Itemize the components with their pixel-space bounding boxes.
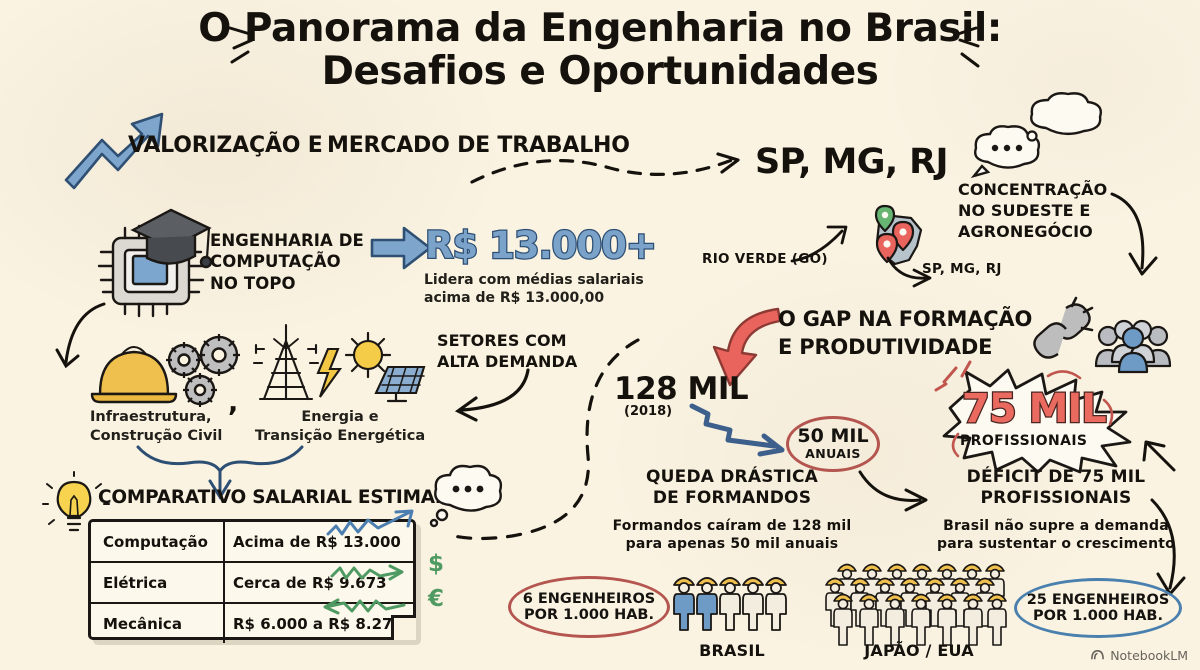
- drop-note: Formandos caíram de 128 mil para apenas …: [606, 517, 858, 553]
- gap-heading: O GAP NA FORMAÇÃO E PRODUTIVIDADE: [778, 307, 1200, 360]
- table-row: Computação Acima de R$ 13.000: [91, 522, 413, 562]
- top-salary-value: R$ 13.000+: [425, 224, 656, 267]
- page-title: O Panorama da Engenharia no Brasil: Desa…: [0, 8, 1200, 93]
- row-1-value: Cerca de R$ 9.673: [224, 562, 413, 603]
- deficit-heading-line2: PROFISSIONAIS: [938, 488, 1174, 509]
- brazil-badge-line2: POR 1.000 HAB.: [524, 607, 654, 623]
- thought-bubble-icon: [968, 122, 1056, 178]
- deficit-note: Brasil não supre a demanda para sustenta…: [930, 517, 1182, 553]
- brazil-ratio-badge: 6 ENGENHEIROS POR 1.000 HAB.: [508, 576, 670, 638]
- infographic-canvas: O Panorama da Engenharia no Brasil: Desa…: [0, 0, 1200, 670]
- top-salary-note-line1: Lidera com médias salariais: [424, 271, 644, 289]
- demand-heading: SETORES COM ALTA DEMANDA: [437, 331, 577, 373]
- deficit-burst-sub: PROFISSIONAIS: [960, 433, 1087, 449]
- salary-table-heading: COMPARATIVO SALARIAL ESTIMADO: [98, 487, 466, 508]
- drop-heading-line2: DE FORMANDOS: [616, 488, 848, 509]
- drop-note-line1: Formandos caíram de 128 mil: [606, 517, 858, 535]
- top-salary-note: Lidera com médias salariais acima de R$ …: [424, 271, 644, 308]
- demand-heading-line2: ALTA DEMANDA: [437, 352, 577, 373]
- deficit-heading-line1: DÉFICIT DE 75 MIL: [938, 467, 1174, 488]
- abroad-badge-line2: POR 1.000 HAB.: [1033, 608, 1163, 624]
- top-item-label-line2: COMPUTAÇÃO: [210, 251, 364, 272]
- market-heading-line2: MERCADO DE TRABALHO: [327, 133, 630, 158]
- regions-heading-line3: AGRONEGÓCIO: [958, 222, 1107, 243]
- deficit-burst-number: 75 MIL: [962, 386, 1106, 432]
- watermark: NotebookLM: [1090, 648, 1188, 663]
- deficit-note-line2: para sustentar o crescimento: [930, 535, 1182, 553]
- market-heading: VALORIZAÇÃO E MERCADO DE TRABALHO: [128, 131, 630, 160]
- sector-item-2-label: Energia e Transição Energética: [250, 408, 430, 445]
- states-small-label: SP, MG, RJ: [922, 261, 1002, 277]
- curved-arrow-left-icon: [432, 368, 542, 424]
- title-line-1-text: O Panorama da Engenharia no Brasil:: [198, 6, 1002, 51]
- market-heading-line1: VALORIZAÇÃO E: [128, 133, 323, 158]
- brazil-label: BRASIL: [672, 641, 792, 660]
- top-salary-note-line2: acima de R$ 13.000,00: [424, 289, 644, 307]
- curved-arrow-down-icon: [1108, 190, 1168, 286]
- brazil-badge-line1: 6 ENGENHEIROS: [523, 591, 656, 607]
- abroad-badge-line1: 25 ENGENHEIROS: [1027, 592, 1170, 608]
- row-1-field: Elétrica: [91, 562, 224, 603]
- currency-dollar-icon: $: [428, 551, 444, 577]
- abroad-ratio-badge: 25 ENGENHEIROS POR 1.000 HAB.: [1014, 578, 1182, 638]
- table-row: Mecânica R$ 6.000 a R$ 8.272: [91, 603, 413, 643]
- bubble-dot: [1028, 132, 1037, 141]
- deficit-heading: DÉFICIT DE 75 MIL PROFISSIONAIS: [938, 467, 1174, 509]
- sector-2-line1: Energia e: [250, 408, 430, 427]
- title-line-1: O Panorama da Engenharia no Brasil:: [198, 8, 1002, 49]
- watermark-label: NotebookLM: [1110, 648, 1188, 663]
- formandos-start-year: (2018): [624, 404, 672, 419]
- abroad-label: JAPÃO / EUA: [826, 641, 1012, 660]
- states-big-label: SP, MG, RJ: [755, 142, 948, 182]
- brazil-worker-figures: [672, 570, 792, 636]
- page-fold-corner: [391, 615, 416, 640]
- sector-1-line2: Construção Civil: [90, 427, 222, 446]
- formandos-start-value: 128 MIL: [614, 371, 748, 407]
- abroad-worker-figures: [826, 558, 1012, 636]
- thought-bubble-small-icon: [1020, 90, 1116, 142]
- row-0-value: Acima de R$ 13.000: [224, 522, 413, 562]
- regions-heading-line2: NO SUDESTE E: [958, 201, 1107, 222]
- gap-heading-line1: O GAP NA FORMAÇÃO: [778, 307, 1032, 331]
- demand-heading-line1: SETORES COM: [437, 331, 577, 352]
- row-2-field: Mecânica: [91, 603, 224, 643]
- regions-heading-line1: CONCENTRAÇÃO: [958, 180, 1107, 201]
- city-label: RIO VERDE (GO): [702, 251, 828, 267]
- sector-item-1-label: Infraestrutura, Construção Civil: [90, 408, 222, 445]
- currency-euro-icon: €: [428, 586, 444, 612]
- power-tower-solar-panel-icon: [246, 315, 426, 410]
- chip-graduation-cap-icon: [95, 200, 215, 312]
- regions-heading: CONCENTRAÇÃO NO SUDESTE E AGRONEGÓCIO: [958, 180, 1107, 242]
- title-line-2: Desafios e Oportunidades: [0, 51, 1200, 92]
- drop-heading: QUEDA DRÁSTICA DE FORMANDOS: [616, 467, 848, 509]
- hard-hat-gears-icon: [88, 320, 250, 410]
- top-item-label-line1: ENGENHARIA DE: [210, 230, 364, 251]
- sector-2-line2: Transição Energética: [250, 427, 430, 446]
- drop-heading-line1: QUEDA DRÁSTICA: [616, 467, 848, 488]
- formandos-end-value: 50 MIL: [797, 427, 868, 447]
- table-row: Elétrica Cerca de R$ 9.673: [91, 562, 413, 603]
- top-item-label: ENGENHARIA DE COMPUTAÇÃO NO TOPO: [210, 230, 364, 294]
- gap-heading-line2: E PRODUTIVIDADE: [778, 335, 992, 359]
- formandos-end-unit: ANUAIS: [805, 447, 861, 460]
- notebooklm-icon: [1090, 648, 1105, 663]
- row-0-field: Computação: [91, 522, 224, 562]
- curved-arrow-down-left-icon: [52, 300, 122, 390]
- sector-separator: ,: [228, 387, 238, 418]
- drop-note-line2: para apenas 50 mil anuais: [606, 535, 858, 553]
- formandos-end-badge: 50 MIL ANUAIS: [786, 416, 880, 472]
- salary-table-body: Computação Acima de R$ 13.000 Elétrica C…: [91, 522, 413, 643]
- salary-table: Computação Acima de R$ 13.000 Elétrica C…: [88, 519, 416, 640]
- deficit-note-line1: Brasil não supre a demanda: [930, 517, 1182, 535]
- top-item-label-line3: NO TOPO: [210, 273, 364, 294]
- sector-1-line1: Infraestrutura,: [90, 408, 222, 427]
- row-2-value: R$ 6.000 a R$ 8.272: [224, 603, 413, 643]
